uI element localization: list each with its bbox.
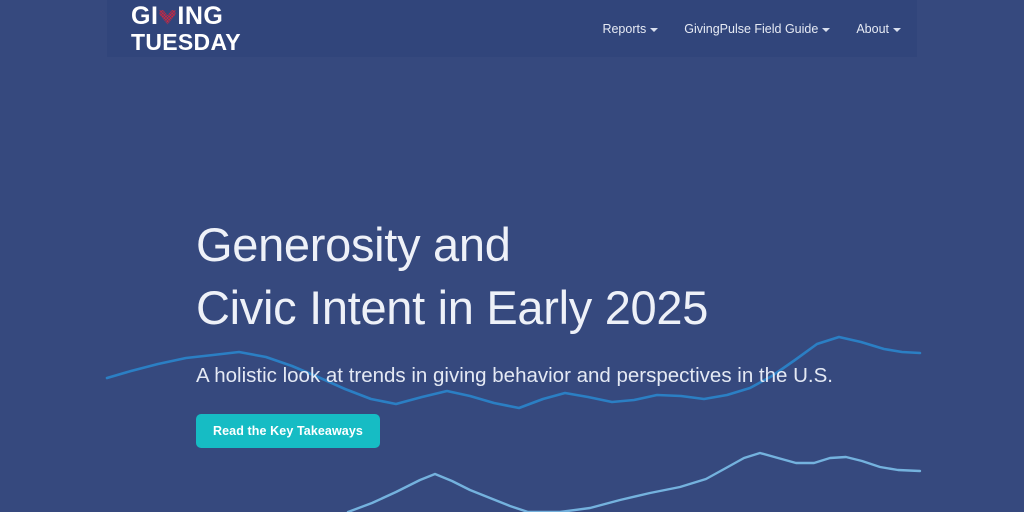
nav-item-givingpulse-field-guide[interactable]: GivingPulse Field Guide (684, 22, 830, 36)
hero-section: Generosity and Civic Intent in Early 202… (196, 214, 896, 448)
site-header: GI ING TUESDAY (107, 0, 917, 57)
main-nav: Reports GivingPulse Field Guide About (602, 0, 901, 57)
logo-text-before-heart: GI (131, 4, 158, 29)
nav-item-givingpulse-field-guide-label: GivingPulse Field Guide (684, 22, 818, 36)
chevron-down-icon (822, 28, 830, 32)
chart-series-lower-trend-line (348, 453, 920, 512)
hero-subtitle: A holistic look at trends in giving beha… (196, 361, 868, 392)
nav-item-about-label: About (856, 22, 889, 36)
logo-line-tuesday: TUESDAY (131, 31, 263, 54)
logo-text-after-heart: ING (177, 4, 223, 29)
givingtuesday-logo[interactable]: GI ING TUESDAY (131, 4, 263, 54)
nav-item-reports-label: Reports (602, 22, 646, 36)
logo-line-giving: GI ING (131, 4, 263, 29)
chevron-down-icon (893, 28, 901, 32)
chevron-down-icon (650, 28, 658, 32)
page-title: Generosity and Civic Intent in Early 202… (196, 214, 896, 339)
heart-icon (158, 7, 177, 26)
page-root: GI ING TUESDAY (0, 0, 1024, 512)
read-key-takeaways-button[interactable]: Read the Key Takeaways (196, 414, 380, 448)
nav-item-about[interactable]: About (856, 22, 901, 36)
nav-item-reports[interactable]: Reports (602, 22, 658, 36)
